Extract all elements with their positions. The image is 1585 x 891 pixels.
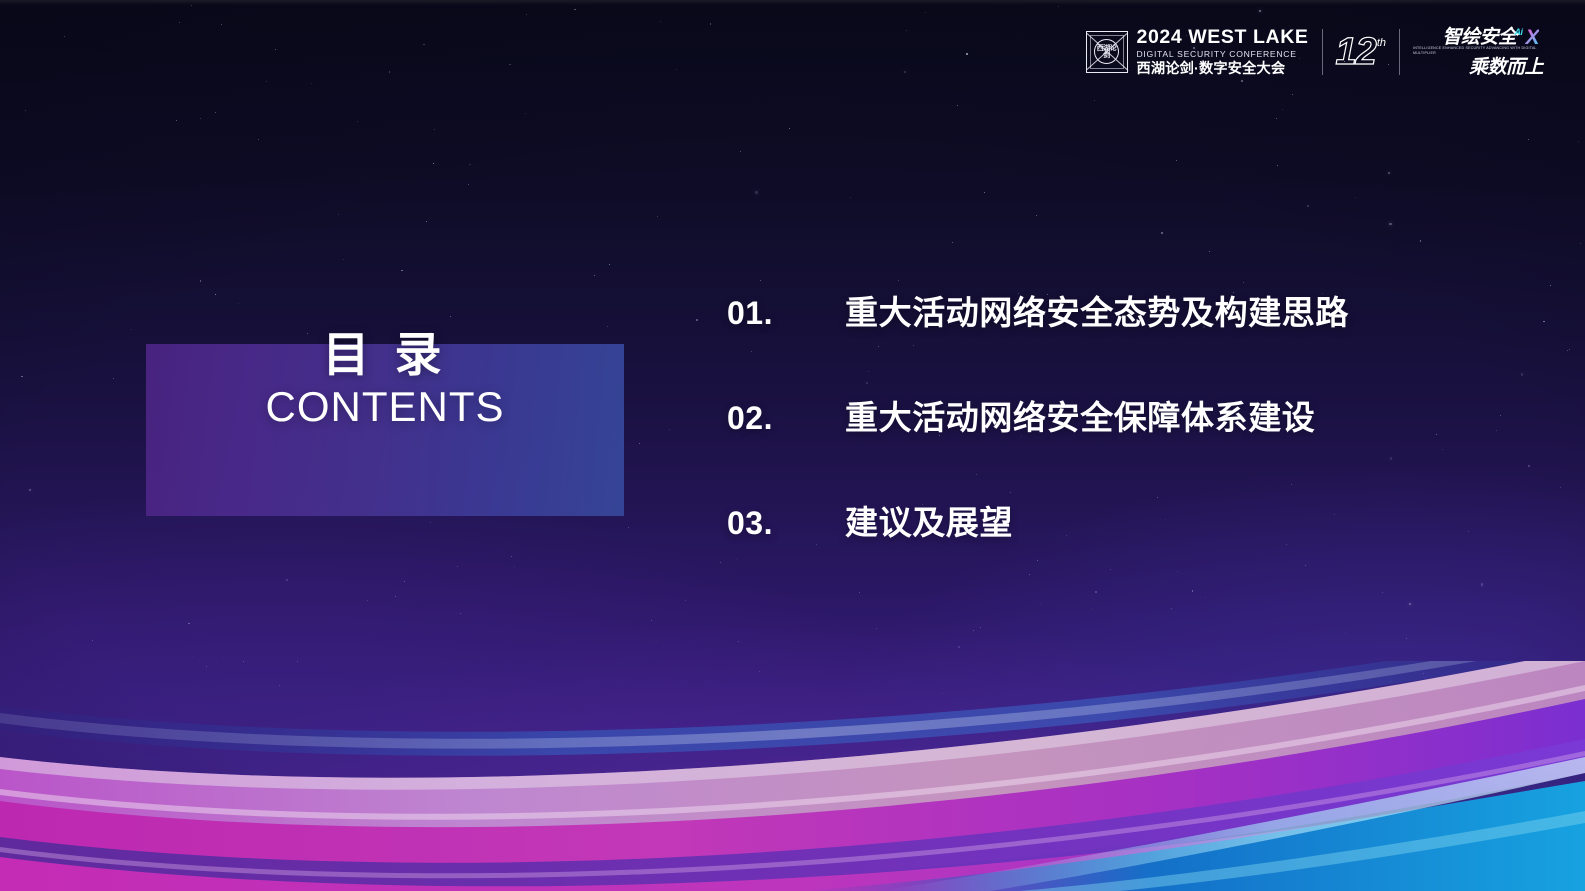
agenda-list: 01. 重大活动网络安全态势及构建思路 02. 重大活动网络安全保障体系建设 0… [727,286,1517,544]
agenda-item-3-label: 建议及展望 [845,496,1013,544]
contents-title-cn: 目 录 [146,330,624,381]
edition-ordinal: th [1377,37,1386,49]
logo-divider-1 [1322,29,1323,75]
conference-header-logos: 西湖论剑 2024 WEST LAKE DIGITAL SECURITY CON… [1086,25,1540,79]
edition-number: 12 [1336,35,1376,70]
ai-mark-icon: Ai [1514,28,1522,37]
conference-slogan: INTELLIGENCE ENHANCED SECURITY ADVANCING… [1413,27,1539,77]
agenda-item-1-label: 重大活动网络安全态势及构建思路 [845,286,1349,334]
slogan-line-1-row: 智绘安全 Ai X [1442,27,1539,48]
presentation-slide: 西湖论剑 2024 WEST LAKE DIGITAL SECURITY CON… [0,0,1585,891]
agenda-item-1-number: 01. [727,295,845,332]
slogan-line-1: 智绘安全 [1442,28,1516,47]
conference-subtitle-cn: 西湖论剑·数字安全大会 [1137,62,1309,76]
contents-title-en: CONTENTS [146,383,624,430]
contents-heading-group: 目 录 CONTENTS [146,330,624,430]
logo-divider-2 [1399,29,1400,75]
agenda-item-3-number: 03. [727,505,845,542]
agenda-item-2-label: 重大活动网络安全保障体系建设 [845,391,1315,439]
agenda-item-2-number: 02. [727,400,845,437]
conference-year-title: 2024 WEST LAKE [1137,28,1309,48]
top-edge-bar [0,0,1585,5]
agenda-item-2[interactable]: 02. 重大活动网络安全保障体系建设 [727,391,1517,439]
conference-subtitle-en: DIGITAL SECURITY CONFERENCE [1137,50,1309,59]
edition-badge: 12 th [1336,35,1386,70]
agenda-item-1[interactable]: 01. 重大活动网络安全态势及构建思路 [727,286,1517,334]
slogan-x-mark: X [1525,27,1539,48]
slogan-line-2: 乘数而上 [1469,58,1543,77]
west-lake-seal-icon: 西湖论剑 [1086,31,1128,73]
agenda-item-3[interactable]: 03. 建议及展望 [727,496,1517,544]
conference-logo: 西湖论剑 2024 WEST LAKE DIGITAL SECURITY CON… [1086,28,1309,76]
